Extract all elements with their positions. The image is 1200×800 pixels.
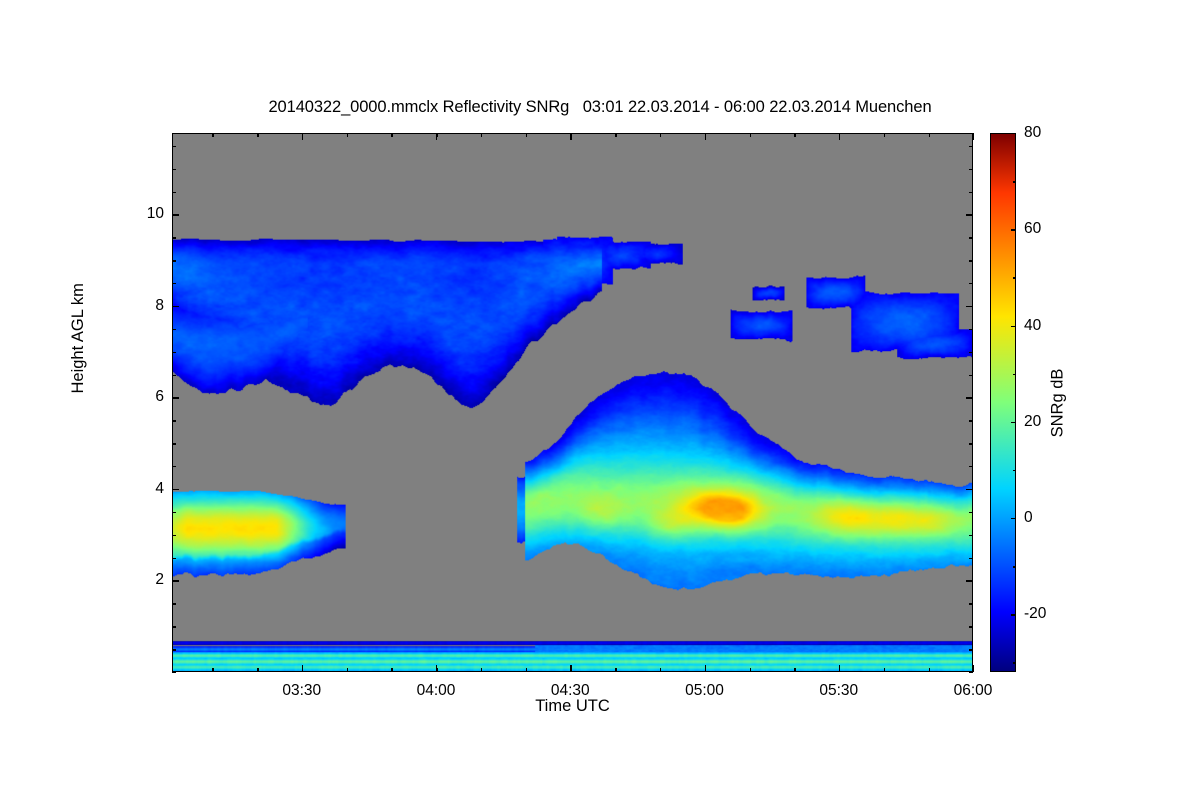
x-tick-minor-top [481,133,482,137]
plot-area [172,133,973,672]
y-tick-minor-right [969,375,973,376]
x-tick-major [302,665,303,672]
x-tick-major-top [436,133,437,140]
y-tick-minor [172,626,176,627]
y-tick-minor [172,283,176,284]
x-tick-major-top [570,133,571,140]
y-tick-minor [172,649,176,650]
x-tick-minor-top [884,133,885,137]
colorbar-tick-minor [1013,422,1016,423]
x-tick-minor [660,668,661,672]
y-tick-label: 2 [124,571,164,589]
colorbar-tick-minor [1013,566,1016,567]
x-tick-minor-top [750,133,751,137]
y-tick-minor-right [969,649,973,650]
y-tick-minor [172,192,176,193]
y-tick-major-right [966,306,973,307]
x-tick-major [570,665,571,672]
y-tick-major [172,397,179,398]
colorbar: 806040200-20 [990,133,1016,672]
colorbar-gradient [990,133,1016,672]
y-tick-label: 6 [124,388,164,406]
x-tick-minor [257,668,258,672]
colorbar-tick-minor [1013,326,1016,327]
x-tick-minor-top [660,133,661,137]
x-tick-major-top [839,133,840,140]
x-tick-minor-top [615,133,616,137]
y-tick-minor [172,146,176,147]
y-tick-major [172,214,179,215]
colorbar-tick-minor [1013,662,1016,663]
y-tick-minor-right [969,672,973,673]
x-tick-minor-top [347,133,348,137]
colorbar-tick-minor [1013,518,1016,519]
colorbar-tick-label: -20 [1024,605,1046,623]
colorbar-tick-label: 60 [1024,220,1041,238]
x-tick-major [705,665,706,672]
y-tick-minor [172,260,176,261]
radar-reflectivity-figure: 20140322_0000.mmclx Reflectivity SNRg 03… [0,0,1200,800]
y-tick-major [172,580,179,581]
colorbar-tick-minor [1013,614,1016,615]
y-tick-minor-right [969,169,973,170]
y-tick-minor [172,603,176,604]
colorbar-tick-label: 40 [1024,317,1041,335]
reflectivity-heatmap [173,134,972,671]
y-tick-minor [172,169,176,170]
x-tick-major-top [705,133,706,140]
y-tick-minor-right [969,192,973,193]
x-tick-minor [212,668,213,672]
y-tick-minor-right [969,237,973,238]
colorbar-tick-minor [1013,470,1016,471]
x-tick-major [436,665,437,672]
y-axis-label: Height AGL km [69,283,88,393]
y-tick-minor-right [969,352,973,353]
y-tick-minor [172,558,176,559]
x-tick-minor [750,668,751,672]
y-tick-minor [172,352,176,353]
y-tick-minor [172,535,176,536]
y-tick-minor-right [969,626,973,627]
x-tick-minor-top [257,133,258,137]
y-tick-minor-right [969,283,973,284]
y-tick-major-right [966,580,973,581]
y-tick-label: 8 [124,297,164,315]
colorbar-tick-label: 20 [1024,413,1041,431]
colorbar-tick-minor [1013,229,1016,230]
y-tick-minor [172,443,176,444]
y-tick-minor [172,237,176,238]
y-tick-minor-right [969,535,973,536]
colorbar-tick-minor [1013,374,1016,375]
y-tick-major-right [966,214,973,215]
x-tick-minor [347,668,348,672]
y-tick-minor-right [969,603,973,604]
x-tick-minor [615,668,616,672]
x-tick-minor [929,668,930,672]
y-tick-minor-right [969,466,973,467]
colorbar-tick-label: 0 [1024,509,1033,527]
colorbar-label: SNRg dB [1049,369,1068,438]
y-tick-minor-right [969,329,973,330]
y-tick-major [172,306,179,307]
x-tick-minor-top [929,133,930,137]
colorbar-tick-label: 80 [1024,124,1041,142]
x-tick-minor [526,668,527,672]
y-tick-major-right [966,489,973,490]
y-tick-minor-right [969,260,973,261]
x-tick-major-top [973,133,974,140]
x-tick-minor-top [526,133,527,137]
x-tick-minor-top [391,133,392,137]
x-tick-minor-top [794,133,795,137]
x-tick-major-top [302,133,303,140]
y-tick-label: 10 [124,205,164,223]
x-tick-major [973,665,974,672]
y-tick-minor [172,420,176,421]
y-tick-major-right [966,397,973,398]
colorbar-tick-minor [1013,133,1016,134]
y-tick-minor-right [969,420,973,421]
y-tick-minor [172,375,176,376]
x-tick-minor [794,668,795,672]
colorbar-tick-minor [1013,277,1016,278]
x-tick-major [839,665,840,672]
y-tick-minor [172,329,176,330]
x-axis-label: Time UTC [172,697,973,716]
y-tick-minor [172,466,176,467]
x-tick-minor [481,668,482,672]
y-tick-minor [172,512,176,513]
y-tick-label: 4 [124,480,164,498]
colorbar-tick-minor [1013,181,1016,182]
y-tick-minor-right [969,443,973,444]
y-tick-major [172,489,179,490]
page-title: 20140322_0000.mmclx Reflectivity SNRg 03… [0,98,1200,117]
y-tick-minor-right [969,146,973,147]
x-tick-minor [391,668,392,672]
x-tick-minor-top [212,133,213,137]
y-tick-minor [172,672,176,673]
y-tick-minor-right [969,512,973,513]
x-tick-minor [884,668,885,672]
y-tick-minor-right [969,558,973,559]
